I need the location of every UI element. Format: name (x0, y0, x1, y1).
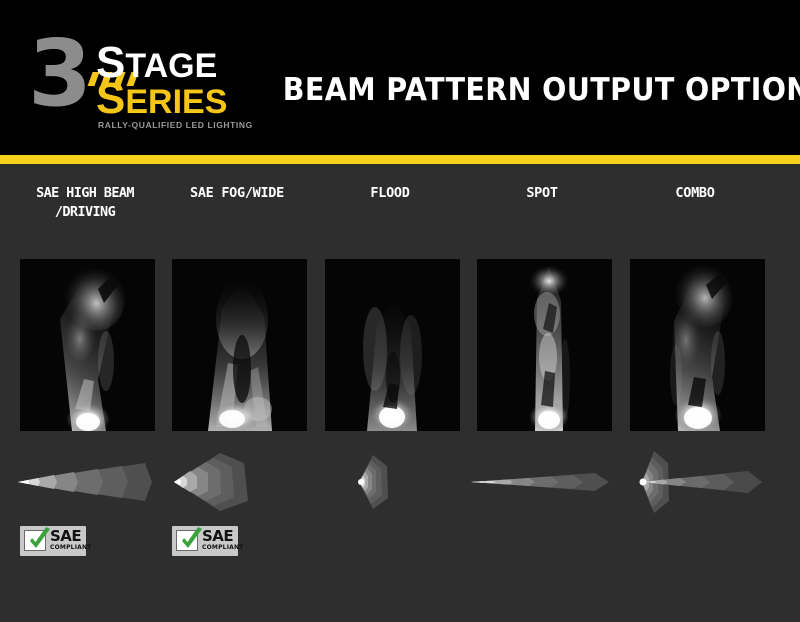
beam-column-label-line1: FLOOD (315, 184, 465, 203)
yellow-accent-divider (0, 155, 800, 164)
beam-photo-high-beam-driving (20, 259, 155, 431)
brand-logo: 3 STAGE SERIES RALLY-QUALIFIED LED LIGHT… (28, 30, 243, 130)
sae-compliant-badge: SAE COMPLIANT (172, 526, 238, 556)
beam-spread-diagram-high-beam-driving (10, 449, 160, 514)
beam-spread-diagram-combo (620, 449, 770, 514)
beam-column-label: SAE HIGH BEAM /DRIVING (10, 184, 160, 222)
beam-column-high-beam-driving: SAE HIGH BEAM /DRIVING (10, 164, 160, 622)
logo-word-series: SERIES (96, 82, 227, 119)
beam-column-label: SAE FOG/WIDE (162, 184, 312, 203)
page-title: BEAM PATTERN OUTPUT OPTIONS (283, 72, 761, 108)
beam-column-label: FLOOD (315, 184, 465, 203)
beam-column-spot: SPOT (467, 164, 617, 622)
sae-badge-secondary-text: COMPLIANT (202, 544, 244, 551)
logo-tagline: RALLY-QUALIFIED LED LIGHTING (98, 120, 253, 130)
logo-word-stage-rest: TAGE (125, 47, 217, 85)
beam-photo-fog-wide (172, 259, 307, 431)
sae-badge-primary-text: SAE (50, 529, 81, 544)
beam-spread-diagram-spot (467, 449, 617, 514)
beam-photo-spot (477, 259, 612, 431)
beam-spread-diagram-fog-wide (162, 449, 312, 514)
beam-pattern-grid: SAE HIGH BEAM /DRIVING (0, 164, 800, 622)
beam-column-label-line1: COMBO (620, 184, 770, 203)
beam-spread-diagram-flood (315, 449, 465, 514)
beam-column-combo: COMBO (620, 164, 770, 622)
beam-column-label: SPOT (467, 184, 617, 203)
logo-numeral: 3 (28, 26, 88, 122)
beam-photo-flood (325, 259, 460, 431)
header-banner: 3 STAGE SERIES RALLY-QUALIFIED LED LIGHT… (0, 0, 800, 155)
beam-column-label: COMBO (620, 184, 770, 203)
beam-column-label-line2: /DRIVING (10, 203, 160, 222)
beam-column-label-line1: SPOT (467, 184, 617, 203)
sae-badge-secondary-text: COMPLIANT (50, 544, 92, 551)
beam-column-label-line1: SAE FOG/WIDE (162, 184, 312, 203)
beam-column-label-line1: SAE HIGH BEAM (10, 184, 160, 203)
sae-badge-primary-text: SAE (202, 529, 233, 544)
beam-photo-combo (630, 259, 765, 431)
beam-column-fog-wide: SAE FOG/WIDE (162, 164, 312, 622)
sae-compliant-badge: SAE COMPLIANT (20, 526, 86, 556)
beam-column-flood: FLOOD (315, 164, 465, 622)
logo-word-series-rest: ERIES (125, 83, 227, 121)
